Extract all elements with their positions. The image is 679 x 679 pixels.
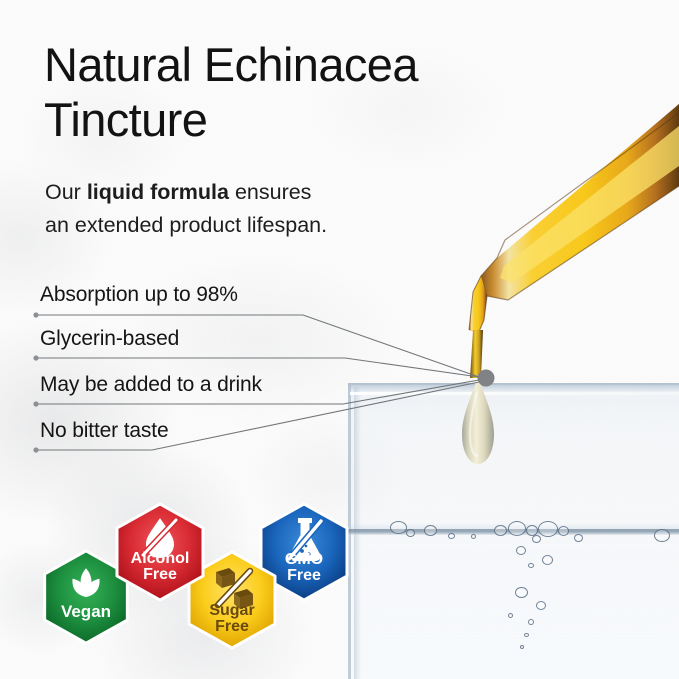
title-line-1: Natural Echinacea bbox=[44, 38, 418, 91]
bubble bbox=[406, 529, 415, 537]
subtitle-pre: Our bbox=[45, 180, 87, 204]
water-glass bbox=[348, 383, 679, 679]
bubble bbox=[520, 645, 524, 649]
page-subtitle: Our liquid formula ensures an extended p… bbox=[45, 176, 445, 243]
feature-item-0: Absorption up to 98% bbox=[40, 283, 238, 307]
feature-item-3: No bitter taste bbox=[40, 419, 168, 443]
bubble bbox=[532, 535, 541, 543]
bubble bbox=[390, 521, 407, 534]
feature-item-2: May be added to a drink bbox=[40, 373, 262, 397]
bubble bbox=[524, 633, 529, 637]
bubble bbox=[528, 563, 534, 568]
bubble bbox=[471, 534, 476, 539]
page-title: Natural Echinacea Tincture bbox=[44, 38, 514, 147]
bubble bbox=[574, 534, 583, 542]
bubble bbox=[508, 613, 513, 618]
bubble bbox=[528, 619, 534, 625]
bubble bbox=[558, 526, 569, 536]
bubble bbox=[538, 521, 558, 537]
subtitle-post: ensures bbox=[229, 180, 311, 204]
bubble bbox=[542, 555, 553, 565]
bubble bbox=[424, 525, 437, 536]
bubble bbox=[494, 525, 507, 536]
bubble bbox=[508, 521, 526, 536]
title-line-2: Tincture bbox=[44, 93, 207, 146]
glass-rim bbox=[348, 383, 679, 392]
bubble bbox=[448, 533, 455, 539]
bubble bbox=[536, 601, 546, 610]
subtitle-line-2: an extended product lifespan. bbox=[45, 213, 327, 237]
subtitle-emphasis: liquid formula bbox=[87, 180, 229, 204]
feature-item-1: Glycerin-based bbox=[40, 327, 179, 351]
badge-alcohol-free: Alcohol Free bbox=[110, 502, 210, 602]
glass-rim-highlight bbox=[350, 392, 679, 395]
certification-badges: Vegan Alc bbox=[34, 497, 364, 647]
bubble bbox=[516, 546, 526, 555]
bubble bbox=[654, 529, 670, 542]
bubble bbox=[515, 587, 528, 598]
product-infographic: Natural Echinacea Tincture Our liquid fo… bbox=[0, 0, 679, 679]
